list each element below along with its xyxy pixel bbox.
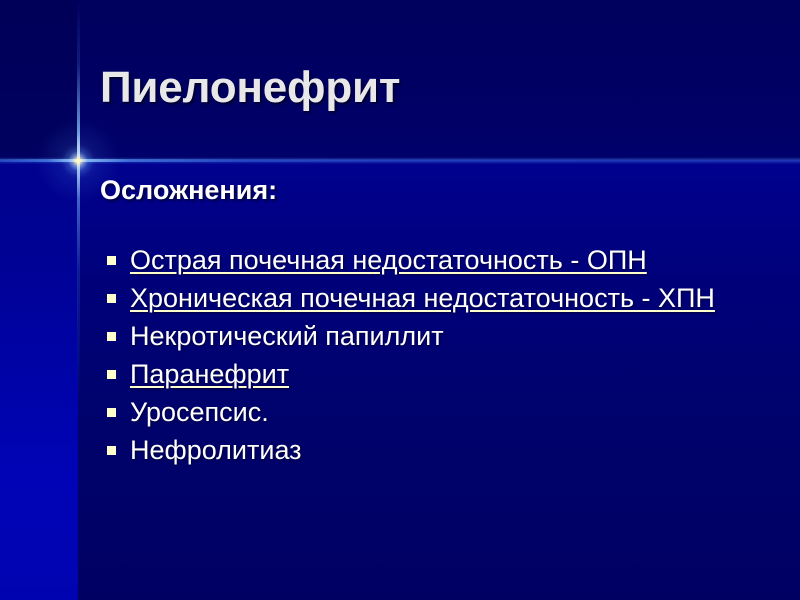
list-item-label: Уросепсис. (130, 397, 269, 427)
list-item-label[interactable]: Паранефрит (130, 359, 289, 389)
list-item[interactable]: Некротический папиллит (100, 319, 755, 353)
list-item-label: Нефролитиаз (130, 435, 302, 465)
list-item-label: Некротический папиллит (130, 321, 444, 351)
presentation-slide: Пиелонефрит Осложнения: Острая почечная … (0, 0, 800, 600)
list-item[interactable]: Уросепсис. (100, 395, 755, 429)
square-bullet-icon (107, 446, 116, 455)
list-item[interactable]: Хроническая почечная недостаточность - Х… (100, 281, 755, 315)
square-bullet-icon (107, 294, 116, 303)
square-bullet-icon (107, 332, 116, 341)
slide-content: Пиелонефрит Осложнения: Острая почечная … (0, 0, 800, 600)
square-bullet-icon (107, 256, 116, 265)
complications-list: Острая почечная недостаточность - ОПН Хр… (100, 243, 755, 471)
list-item[interactable]: Острая почечная недостаточность - ОПН (100, 243, 755, 277)
list-item-label[interactable]: Хроническая почечная недостаточность - Х… (130, 283, 715, 313)
slide-title: Пиелонефрит (100, 63, 400, 113)
list-item[interactable]: Паранефрит (100, 357, 755, 391)
slide-subheading: Осложнения: (100, 175, 277, 206)
square-bullet-icon (107, 370, 116, 379)
list-item-label[interactable]: Острая почечная недостаточность - ОПН (130, 245, 647, 275)
square-bullet-icon (107, 408, 116, 417)
list-item[interactable]: Нефролитиаз (100, 433, 755, 467)
